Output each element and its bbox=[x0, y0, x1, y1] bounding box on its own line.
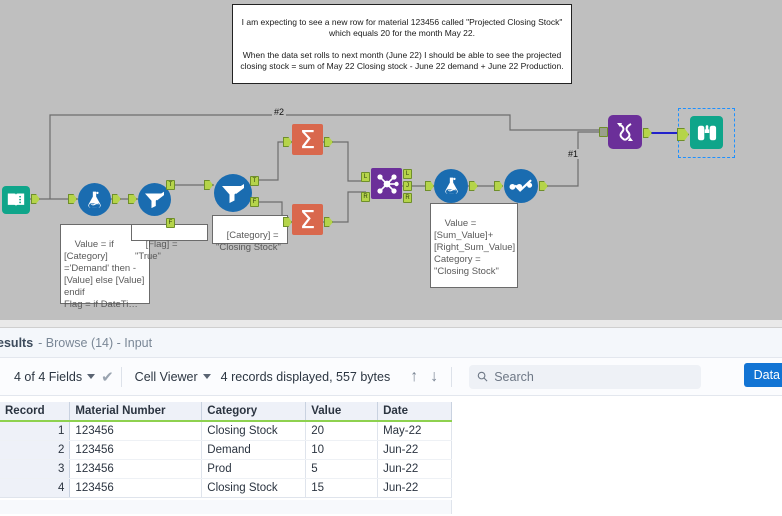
fields-selector[interactable]: 4 of 4 Fields bbox=[8, 370, 101, 384]
cell-category: Demand bbox=[202, 441, 306, 460]
union-input-anchor[interactable] bbox=[599, 127, 608, 137]
cell-record: 4 bbox=[0, 479, 70, 498]
join-join-output-anchor[interactable]: J bbox=[403, 181, 412, 191]
cell-material-number: 123456 bbox=[70, 421, 202, 441]
sigma-icon: Σ bbox=[292, 124, 323, 155]
union-arrows-icon bbox=[608, 115, 642, 149]
cell-viewer-label: Cell Viewer bbox=[135, 370, 198, 384]
cell-date: Jun-22 bbox=[378, 479, 452, 498]
column-header-material-number[interactable]: Material Number bbox=[70, 402, 202, 421]
sigma-icon: Σ bbox=[292, 204, 323, 235]
results-subtitle: - Browse (14) - Input bbox=[38, 336, 152, 350]
join-right-input-anchor[interactable]: R bbox=[361, 192, 370, 202]
workflow-comment-text: I am expecting to see a new row for mate… bbox=[236, 17, 568, 72]
cell-record: 3 bbox=[0, 460, 70, 479]
formula-tool-sum[interactable] bbox=[434, 169, 468, 203]
join-tool[interactable] bbox=[371, 168, 402, 199]
cell-value: 5 bbox=[306, 460, 378, 479]
arrow-down-icon[interactable]: ↓ bbox=[424, 368, 444, 386]
formula-annotation-sum-text: Value = [Sum_Value]+[Right_Sum_Value] Ca… bbox=[434, 218, 515, 277]
browse-tool[interactable] bbox=[690, 116, 723, 149]
table-body: 1 123456 Closing Stock 20 May-22 2 12345… bbox=[0, 421, 452, 498]
cell-value: 10 bbox=[306, 441, 378, 460]
formula-annotation-sum[interactable]: Value = [Sum_Value]+[Right_Sum_Value] Ca… bbox=[430, 203, 518, 288]
join-left-input-anchor[interactable]: L bbox=[361, 172, 370, 182]
search-icon bbox=[477, 371, 488, 382]
filter-flag-false-anchor[interactable]: F bbox=[166, 218, 175, 228]
connection-label-1: #1 bbox=[566, 149, 580, 159]
chevron-down-icon bbox=[203, 374, 211, 379]
check-icon[interactable]: ✔ bbox=[101, 368, 114, 386]
check-dots-icon bbox=[504, 169, 538, 203]
results-table: Record Material Number Category Value Da… bbox=[0, 402, 452, 498]
flask-icon bbox=[434, 169, 468, 203]
filter-category-true-anchor[interactable]: T bbox=[250, 176, 259, 186]
table-footer-area bbox=[0, 500, 452, 514]
table-row[interactable]: 3 123456 Prod 5 Jun-22 bbox=[0, 460, 452, 479]
filter-tool-category[interactable] bbox=[214, 174, 252, 212]
table-row[interactable]: 2 123456 Demand 10 Jun-22 bbox=[0, 441, 452, 460]
results-panel: Results - Browse (14) - Input 4 of 4 Fie… bbox=[0, 320, 782, 516]
cell-record: 1 bbox=[0, 421, 70, 441]
search-input[interactable]: Search bbox=[469, 365, 701, 389]
results-title: Results bbox=[0, 336, 33, 350]
arrow-up-icon[interactable]: ↑ bbox=[404, 368, 424, 386]
table-row[interactable]: 4 123456 Closing Stock 15 Jun-22 bbox=[0, 479, 452, 498]
flask-icon bbox=[78, 183, 111, 216]
cell-material-number: 123456 bbox=[70, 479, 202, 498]
table-header-row: Record Material Number Category Value Da… bbox=[0, 402, 452, 421]
records-displayed-label: 4 records displayed, 557 bytes bbox=[221, 370, 391, 384]
cell-category: Closing Stock bbox=[202, 479, 306, 498]
join-nodes-icon bbox=[371, 168, 402, 199]
toolbar-divider bbox=[121, 367, 122, 387]
data-button[interactable]: Data bbox=[744, 363, 782, 387]
column-header-category[interactable]: Category bbox=[202, 402, 306, 421]
cell-category: Closing Stock bbox=[202, 421, 306, 441]
book-icon bbox=[2, 186, 30, 214]
column-header-record[interactable]: Record bbox=[0, 402, 70, 421]
column-header-date[interactable]: Date bbox=[378, 402, 452, 421]
cell-value: 15 bbox=[306, 479, 378, 498]
union-tool[interactable] bbox=[608, 115, 642, 149]
results-title-bar: Results - Browse (14) - Input bbox=[0, 328, 782, 358]
search-placeholder: Search bbox=[494, 370, 534, 384]
filter-flag-true-anchor[interactable]: T bbox=[166, 180, 175, 190]
summarize-tool-top[interactable]: Σ bbox=[292, 124, 323, 155]
toolbar-divider-2 bbox=[451, 367, 452, 387]
cell-date: Jun-22 bbox=[378, 460, 452, 479]
panel-divider bbox=[0, 320, 782, 328]
cell-viewer-selector[interactable]: Cell Viewer bbox=[129, 370, 217, 384]
formula-tool[interactable] bbox=[78, 183, 111, 216]
workflow-canvas[interactable]: I am expecting to see a new row for mate… bbox=[0, 0, 782, 320]
join-right-output-anchor[interactable]: R bbox=[403, 193, 412, 203]
cell-material-number: 123456 bbox=[70, 460, 202, 479]
chevron-down-icon bbox=[87, 374, 95, 379]
filter-annotation-category[interactable]: [Category] = "Closing Stock" bbox=[212, 215, 288, 244]
workflow-comment-box[interactable]: I am expecting to see a new row for mate… bbox=[232, 4, 572, 84]
results-toolbar: 4 of 4 Fields ✔ Cell Viewer 4 records di… bbox=[0, 358, 782, 396]
binoculars-icon bbox=[690, 116, 723, 149]
cell-date: May-22 bbox=[378, 421, 452, 441]
connection-label-2: #2 bbox=[272, 107, 286, 117]
select-tool[interactable] bbox=[504, 169, 538, 203]
cell-category: Prod bbox=[202, 460, 306, 479]
table-row[interactable]: 1 123456 Closing Stock 20 May-22 bbox=[0, 421, 452, 441]
cell-value: 20 bbox=[306, 421, 378, 441]
cell-record: 2 bbox=[0, 441, 70, 460]
summarize-tool-bottom[interactable]: Σ bbox=[292, 204, 323, 235]
cell-material-number: 123456 bbox=[70, 441, 202, 460]
join-left-output-anchor[interactable]: L bbox=[403, 169, 412, 179]
filter-annotation-category-text: [Category] = "Closing Stock" bbox=[216, 230, 281, 253]
column-header-value[interactable]: Value bbox=[306, 402, 378, 421]
filter-category-false-anchor[interactable]: F bbox=[250, 197, 259, 207]
fields-label: 4 of 4 Fields bbox=[14, 370, 82, 384]
cell-date: Jun-22 bbox=[378, 441, 452, 460]
results-table-wrapper[interactable]: Record Material Number Category Value Da… bbox=[0, 402, 452, 498]
funnel-icon bbox=[214, 174, 252, 212]
input-data-tool[interactable] bbox=[2, 186, 30, 214]
